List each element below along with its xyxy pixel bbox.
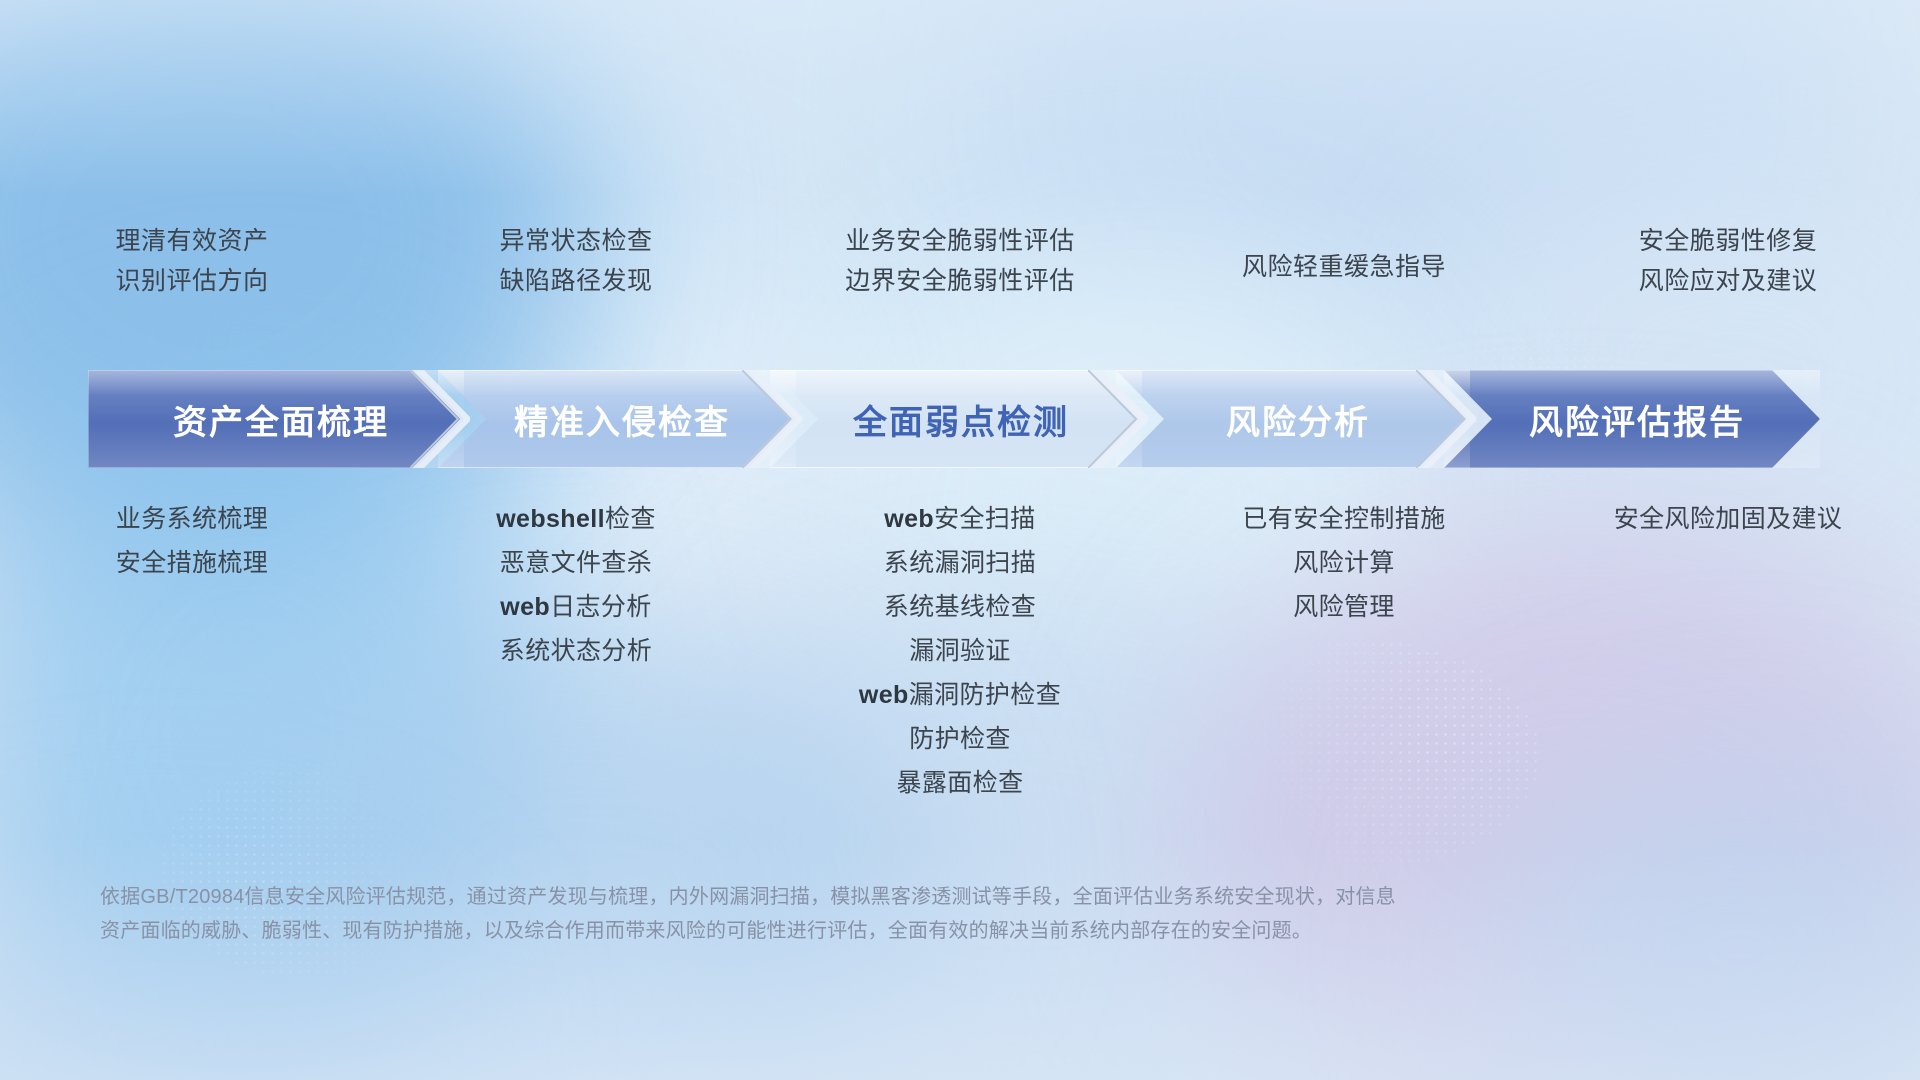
caption-line: 边界安全脆弱性评估 (845, 268, 1075, 294)
detail-text: 已有安全控制措施 (1242, 505, 1445, 533)
detail-text: 暴露面检查 (896, 769, 1023, 797)
detail-text: 安全措施梳理 (116, 549, 268, 577)
detail-item: web安全扫描 (884, 506, 1035, 533)
caption-line: 缺陷路径发现 (499, 268, 652, 294)
detail-text: 安全扫描 (934, 505, 1036, 533)
detail-item: 已有安全控制措施 (1242, 506, 1445, 533)
detail-text: 安全风险加固及建议 (1614, 505, 1843, 533)
top-captions-intrusion-check: 异常状态检查 缺陷路径发现 (384, 228, 768, 295)
stage-chevron-banner: 资产全面梳理 精准入侵检查 全面弱点检测 风险分析 风险评估报告 (88, 370, 1844, 468)
footer-line: 资产面临的威胁、脆弱性、现有防护措施，以及综合作用而带来风险的可能性进行评估，全… (100, 914, 1630, 948)
detail-item: webshell检查 (496, 506, 656, 533)
detail-item: 暴露面检查 (896, 770, 1023, 797)
stage-label: 全面弱点检测 (843, 395, 1069, 444)
top-captions-risk-report: 安全脆弱性修复 风险应对及建议 (1536, 228, 1920, 295)
detail-item: 恶意文件查杀 (500, 550, 652, 577)
top-caption-row: 理清有效资产 识别评估方向 异常状态检查 缺陷路径发现 业务安全脆弱性评估 边界… (0, 228, 1920, 295)
detail-text: 漏洞防护检查 (909, 681, 1061, 709)
stage-chevron-intrusion-check[interactable]: 精准入侵检查 (438, 370, 796, 468)
detail-item: 业务系统梳理 (116, 506, 268, 533)
caption-line: 风险轻重缓急指导 (1242, 254, 1446, 280)
detail-item: web日志分析 (500, 594, 651, 621)
details-risk-analysis: 已有安全控制措施 风险计算 风险管理 (1152, 506, 1536, 621)
detail-lead: web (884, 505, 934, 533)
detail-item: web漏洞防护检查 (859, 682, 1061, 709)
detail-text: 检查 (605, 505, 656, 533)
detail-text: 日志分析 (550, 593, 652, 621)
detail-lead: webshell (496, 505, 605, 533)
detail-item: 风险计算 (1293, 550, 1395, 577)
detail-item: 系统基线检查 (884, 594, 1036, 621)
detail-text: 业务系统梳理 (116, 505, 268, 533)
stage-chevron-asset-review[interactable]: 资产全面梳理 (88, 370, 464, 468)
caption-line: 安全脆弱性修复 (1639, 228, 1818, 254)
detail-item: 防护检查 (909, 726, 1011, 753)
detail-lead: web (859, 681, 909, 709)
detail-text: 系统漏洞扫描 (884, 549, 1036, 577)
detail-text: 系统状态分析 (500, 637, 652, 665)
process-diagram: 理清有效资产 识别评估方向 异常状态检查 缺陷路径发现 业务安全脆弱性评估 边界… (0, 0, 1920, 1080)
detail-text: 系统基线检查 (884, 593, 1036, 621)
stage-chevron-weakness-detection[interactable]: 全面弱点检测 (770, 370, 1142, 468)
detail-item: 安全风险加固及建议 (1614, 506, 1843, 533)
stage-label: 风险评估报告 (1519, 395, 1745, 444)
stage-label: 资产全面梳理 (163, 395, 389, 444)
footer-description: 依据GB/T20984信息安全风险评估规范，通过资产发现与梳理，内外网漏洞扫描，… (100, 880, 1630, 948)
detail-item: 安全措施梳理 (116, 550, 268, 577)
detail-text: 风险管理 (1293, 593, 1395, 621)
top-captions-asset-review: 理清有效资产 识别评估方向 (0, 228, 384, 295)
detail-item: 系统状态分析 (500, 638, 652, 665)
top-captions-risk-analysis: 风险轻重缓急指导 (1152, 228, 1536, 295)
caption-line: 理清有效资产 (115, 228, 268, 254)
details-intrusion-check: webshell检查 恶意文件查杀 web日志分析 系统状态分析 (384, 506, 768, 665)
detail-lead: web (500, 593, 550, 621)
detail-item: 系统漏洞扫描 (884, 550, 1036, 577)
details-weakness-detection: web安全扫描 系统漏洞扫描 系统基线检查 漏洞验证 web漏洞防护检查 防护检… (768, 506, 1152, 797)
caption-line: 风险应对及建议 (1639, 268, 1818, 294)
stage-chevron-risk-report[interactable]: 风险评估报告 (1444, 370, 1820, 468)
details-asset-review: 业务系统梳理 安全措施梳理 (0, 506, 384, 577)
detail-item: 漏洞验证 (909, 638, 1011, 665)
caption-line: 业务安全脆弱性评估 (845, 228, 1075, 254)
footer-line: 依据GB/T20984信息安全风险评估规范，通过资产发现与梳理，内外网漏洞扫描，… (100, 880, 1630, 914)
detail-text: 漏洞验证 (909, 637, 1011, 665)
detail-text: 防护检查 (909, 725, 1011, 753)
stage-label: 风险分析 (1216, 395, 1370, 444)
detail-text: 风险计算 (1293, 549, 1395, 577)
stage-label: 精准入侵检查 (504, 395, 730, 444)
detail-item: 风险管理 (1293, 594, 1395, 621)
caption-line: 识别评估方向 (115, 268, 268, 294)
detail-row: 业务系统梳理 安全措施梳理 webshell检查 恶意文件查杀 web日志分析 … (0, 506, 1920, 797)
details-risk-report: 安全风险加固及建议 (1536, 506, 1920, 533)
stage-chevron-risk-analysis[interactable]: 风险分析 (1116, 370, 1470, 468)
top-captions-weakness-detection: 业务安全脆弱性评估 边界安全脆弱性评估 (768, 228, 1152, 295)
caption-line: 异常状态检查 (499, 228, 652, 254)
detail-text: 恶意文件查杀 (500, 549, 652, 577)
